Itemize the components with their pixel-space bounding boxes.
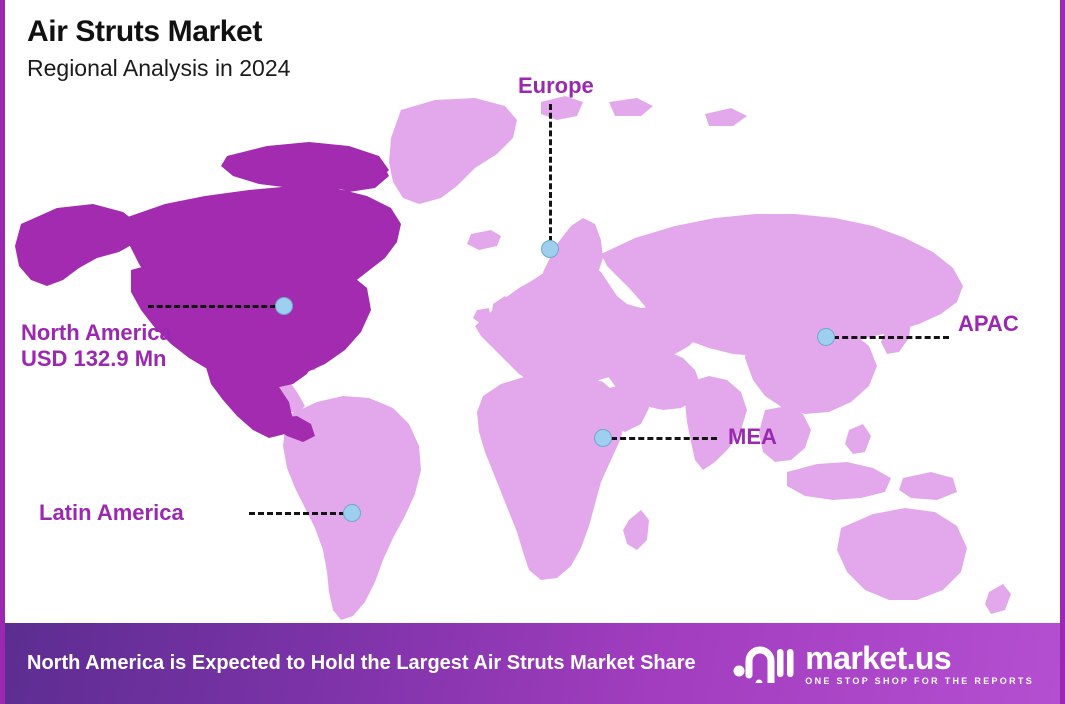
marker-latin-america[interactable]	[343, 504, 361, 522]
bottom-banner: North America is Expected to Hold the La…	[5, 623, 1060, 704]
map-region-africa	[477, 372, 625, 580]
infographic-card: Air Struts Market Regional Analysis in 2…	[0, 0, 1065, 704]
region-name-latin-america: Latin America	[39, 500, 184, 525]
map-region-indonesia	[787, 462, 891, 500]
logo-mark-icon	[733, 639, 795, 688]
leader-line-europe	[549, 104, 552, 242]
logo-text: market.us ONE STOP SHOP FOR THE REPORTS	[805, 642, 1034, 686]
map-region-new-zealand	[985, 584, 1011, 614]
map-region-australia	[837, 508, 967, 600]
page-subtitle: Regional Analysis in 2024	[27, 55, 290, 81]
logo-name: market.us	[805, 642, 1034, 674]
region-name-europe: Europe	[518, 73, 594, 98]
map-region-arctic-isles-a	[609, 98, 653, 116]
header: Air Struts Market Regional Analysis in 2…	[27, 14, 290, 82]
marker-mea[interactable]	[594, 429, 612, 447]
leader-line-apac	[833, 336, 949, 339]
map-region-arctic-isles-b	[705, 108, 747, 126]
leader-line-mea	[611, 437, 717, 440]
map-region-philippines	[845, 424, 871, 454]
map-region-iceland	[467, 230, 501, 250]
region-label-mea: MEA	[728, 424, 777, 450]
banner-headline: North America is Expected to Hold the La…	[27, 650, 696, 677]
marker-europe[interactable]	[541, 240, 559, 258]
region-name-apac: APAC	[958, 311, 1019, 336]
map-region-new-guinea	[899, 472, 957, 500]
leader-line-latin-america	[249, 512, 345, 515]
map-region-greenland	[389, 98, 517, 204]
map-region-south-asia	[685, 376, 747, 470]
region-label-north-america: North America USD 132.9 Mn	[21, 320, 172, 373]
map-region-alaska	[15, 204, 141, 286]
region-label-latin-america: Latin America	[39, 500, 184, 526]
leader-line-north-america	[148, 305, 276, 308]
region-label-europe: Europe	[518, 73, 594, 99]
logo-tagline: ONE STOP SHOP FOR THE REPORTS	[805, 677, 1034, 686]
map-region-madagascar	[623, 510, 649, 550]
marker-north-america[interactable]	[275, 297, 293, 315]
marker-apac[interactable]	[817, 328, 835, 346]
map-region-svalbard	[541, 96, 583, 120]
region-value-north-america: USD 132.9 Mn	[21, 346, 172, 372]
market-us-logo[interactable]: market.us ONE STOP SHOP FOR THE REPORTS	[733, 639, 1044, 688]
page-title: Air Struts Market	[27, 14, 290, 49]
region-label-apac: APAC	[958, 311, 1019, 337]
logo-glyph-icon	[733, 639, 795, 683]
region-name-mea: MEA	[728, 424, 777, 449]
region-name-north-america: North America	[21, 320, 172, 345]
